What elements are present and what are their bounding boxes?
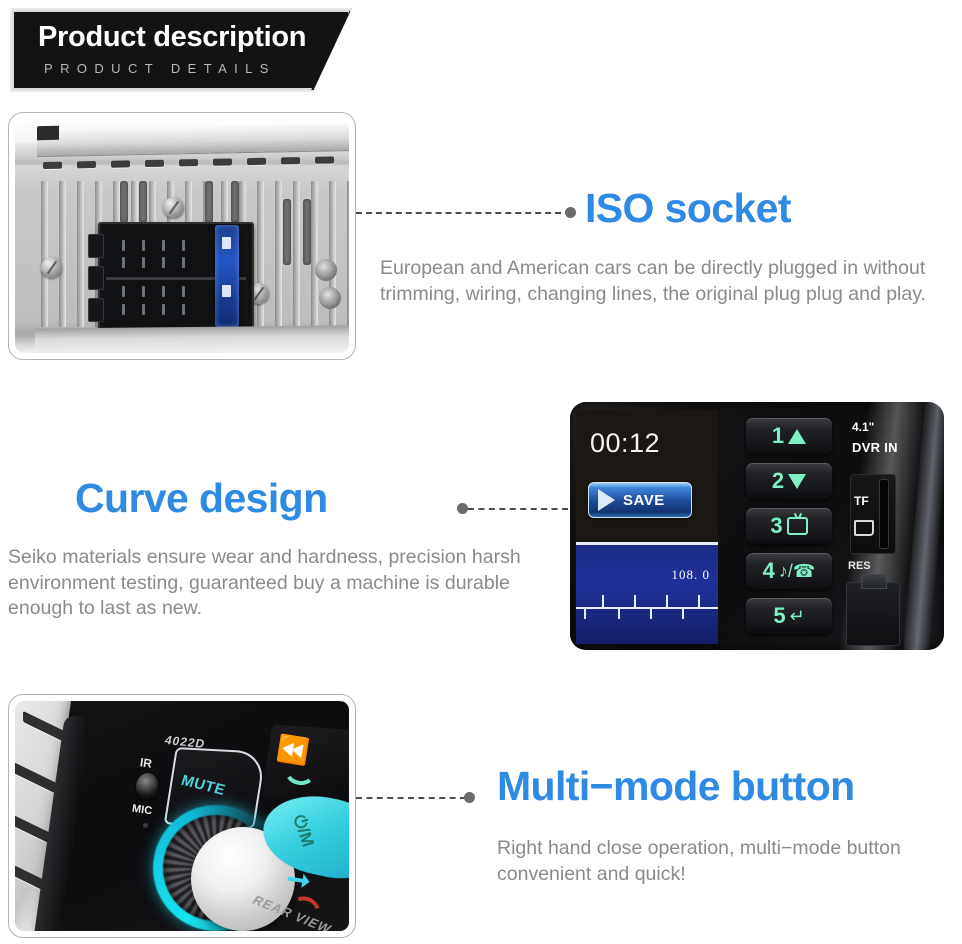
chassis-top-lip	[37, 124, 349, 156]
tuner-scale-line	[576, 607, 718, 609]
connector-dot-multi	[464, 792, 475, 803]
tf-label: TF	[854, 494, 869, 508]
callout-title-curve-design: Curve design	[75, 478, 328, 519]
chassis-base-rail	[35, 325, 349, 353]
photo-faceplate: 4022D IR MIC MUTE ⏪ ⏻/M ➞ REAR VIEW	[8, 694, 356, 938]
blue-antenna-connector	[215, 225, 239, 327]
lcd-screen: 00:12 SAVE 108. 0	[576, 410, 718, 644]
save-button-label: SAVE	[623, 492, 665, 509]
triangle-down-icon	[788, 474, 806, 489]
chassis-vent-slots	[43, 152, 349, 174]
key-4-audio[interactable]: 4 ♪/☎	[746, 553, 832, 589]
enter-icon: ↵	[790, 607, 805, 625]
music-mic-icon: ♪/☎	[779, 562, 815, 580]
callout-body-multi-mode-button: Right hand close operation, multi−mode b…	[497, 836, 962, 887]
photo-faceplate-image: 4022D IR MIC MUTE ⏪ ⏻/M ➞ REAR VIEW	[15, 701, 349, 931]
photo-iso-socket	[8, 112, 356, 360]
frequency-readout: 108. 0	[672, 567, 711, 583]
photo-head-unit: 00:12 SAVE 108. 0 1	[562, 392, 962, 658]
dvr-in-label: DVR IN	[852, 440, 898, 455]
key-2-label: 2	[772, 470, 784, 492]
memory-card-icon	[854, 520, 874, 536]
callout-title-iso-socket: ISO socket	[585, 188, 791, 229]
screen-size-label: 4.1"	[852, 420, 874, 434]
chassis-corner-shadow	[37, 126, 59, 140]
save-button[interactable]: SAVE	[588, 482, 692, 518]
connector-dot-curve	[457, 503, 468, 514]
flap-tab	[861, 574, 887, 589]
chassis-screw-left	[41, 257, 62, 278]
ir-label: IR	[139, 755, 153, 771]
page-title: Product description	[38, 21, 306, 54]
key-1-label: 1	[772, 425, 784, 447]
radio-band-area: 108. 0	[576, 542, 718, 644]
key-5-enter[interactable]: 5 ↵	[746, 598, 832, 634]
connector-line-curve	[468, 508, 568, 510]
connector-side-tabs	[88, 230, 102, 324]
page-subtitle: PRODUCT DETAILS	[44, 61, 276, 76]
key-3-label: 3	[770, 515, 782, 537]
res-label: RES	[848, 560, 871, 572]
usb-port-flap[interactable]	[846, 582, 900, 646]
section-header-banner: Product description PRODUCT DETAILS	[10, 8, 352, 92]
head-unit-body: 00:12 SAVE 108. 0 1	[570, 402, 944, 650]
key-3-tv[interactable]: 3	[746, 508, 832, 544]
rca-jack-lower	[319, 287, 341, 309]
callout-body-iso-socket: European and American cars can be direct…	[380, 256, 962, 307]
photo-iso-socket-image	[15, 119, 349, 353]
connector-dot-iso	[565, 207, 576, 218]
numeric-keypad: 1 2 3 4 ♪/☎ 5 ↵	[746, 418, 832, 643]
rca-jack-upper	[315, 259, 337, 281]
tv-icon	[787, 517, 808, 535]
callout-title-multi-mode-button: Multi−mode button	[497, 766, 855, 807]
connector-line-iso	[356, 212, 571, 214]
clock-readout: 00:12	[590, 428, 660, 459]
chassis-screw-top	[163, 197, 184, 218]
callout-body-curve-design: Seiko materials ensure wear and hardness…	[8, 545, 553, 622]
play-icon	[598, 489, 615, 511]
key-4-label: 4	[763, 560, 775, 582]
card-slot-opening	[880, 480, 888, 548]
key-5-label: 5	[773, 605, 785, 627]
tf-card-slot[interactable]	[850, 474, 896, 554]
key-1-up[interactable]: 1	[746, 418, 832, 454]
connector-line-multi	[356, 797, 466, 799]
key-2-down[interactable]: 2	[746, 463, 832, 499]
mic-hole	[143, 823, 148, 828]
triangle-up-icon	[788, 429, 806, 444]
